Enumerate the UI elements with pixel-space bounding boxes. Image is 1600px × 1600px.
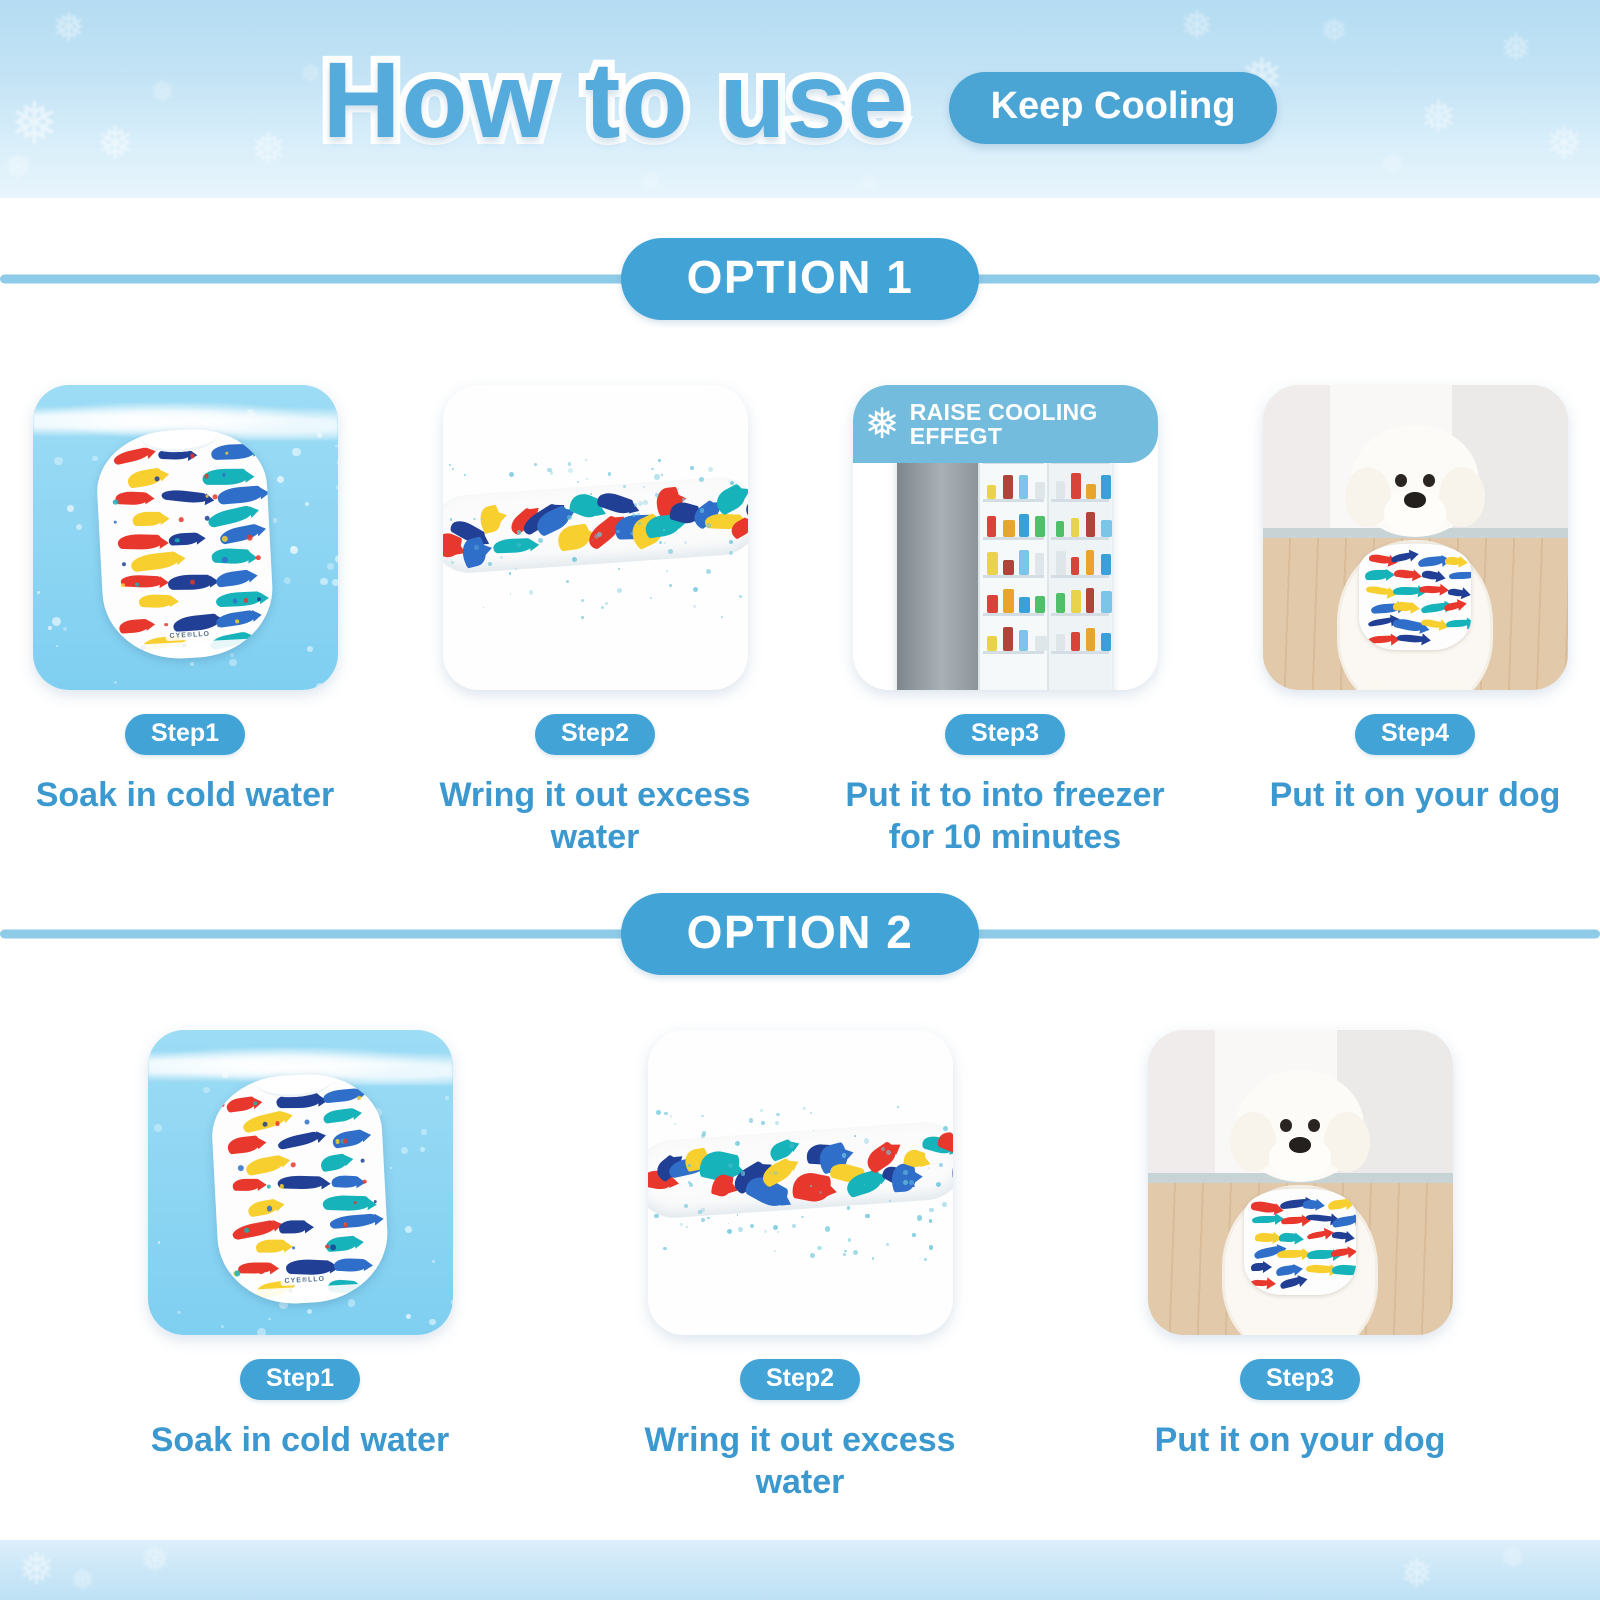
step-image-wrung-fabric-with-splash[interactable] [648,1030,953,1335]
water-droplet [854,1135,856,1137]
refrigerator-item [1056,481,1065,499]
dot-motif [175,538,180,543]
water-droplet [842,1153,846,1157]
water-droplet [912,1233,916,1237]
dot-motif [190,453,195,458]
step-image-wrung-fabric-with-splash[interactable] [443,385,748,690]
fish-motif [1280,1277,1302,1290]
dot-motif [264,617,267,620]
step-3: Step3Put it on your dog [1130,1030,1470,1462]
fish-motif [1331,1230,1348,1240]
water-droplet [693,587,698,592]
water-droplet [567,515,572,520]
refrigerator-item [1056,593,1065,613]
step-caption: Wring it out excess water [425,775,765,859]
water-droplet [566,580,569,583]
water-droplet [701,1218,705,1222]
snowflake-icon: ❅ [865,403,900,445]
water-droplet [663,1247,667,1251]
water-droplet [801,1216,803,1218]
fish-motif [121,574,162,588]
dot-motif [113,499,119,505]
dot-motif [259,1269,264,1274]
water-droplet [897,1106,899,1108]
water-droplet [903,1180,908,1185]
fish-motif [1393,617,1424,633]
step-badge: Step2 [740,1359,860,1400]
product-shirt: CYE®LLO [209,1070,391,1307]
fish-motif [334,1258,367,1272]
fish-motif [1250,1279,1269,1286]
header-band: ❅❅❅❅❅❅❅❅❅❅❅❅❅❅❅❅ How to use Keep Cooling [0,0,1600,198]
refrigerator-item [1056,634,1065,651]
step-image-product-shirt-in-water[interactable]: CYE®LLO [33,385,338,690]
water-droplet [529,590,534,595]
fish-motif [1421,569,1439,580]
snowflake-icon: ❅ [1400,1554,1434,1594]
fish-motif [216,590,263,606]
water-droplet [917,1215,922,1220]
fish-motif [216,569,253,587]
water-droplet [690,466,694,470]
refrigerator-item [1056,521,1064,537]
step-badge: Step3 [1240,1359,1360,1400]
fish-motif [276,1130,320,1149]
fish-motif [117,534,161,550]
dot-motif [237,1165,243,1171]
water-droplet [517,530,521,534]
water-droplet [727,1229,732,1234]
step-caption: Soak in cold water [15,775,355,817]
water-droplet [929,1208,933,1212]
water-droplet [670,1115,673,1118]
water-droplet [825,1226,830,1231]
dot-motif [252,450,257,455]
refrigerator-item [1019,597,1030,613]
dot-motif [122,562,126,566]
water-droplet [728,1163,733,1168]
fish-motif [330,1213,378,1229]
refrigerator-item [1019,630,1028,651]
refrigerator-item [1086,628,1095,651]
refrigerator-item [987,595,998,613]
refrigerator-item [1003,589,1014,613]
dog-paw [1319,1327,1359,1335]
refrigerator-item [1071,632,1080,651]
water-droplet [655,493,659,497]
water-droplet [581,616,584,619]
dog-paw [1241,1327,1281,1335]
page-title: How to use [323,37,909,162]
water-droplet [680,1223,683,1226]
option-1-label: OPTION 1 [621,238,980,320]
step-badge: Step2 [535,714,655,755]
water-droplet [684,541,687,544]
step-1: CYE®LLOStep1Soak in cold water [130,1030,470,1462]
fish-motif [277,1175,324,1190]
product-shirt: CYE®LLO [94,425,276,662]
dot-motif [253,1101,258,1106]
water-droplet [810,1112,812,1114]
refrigerator-item [987,516,996,537]
water-droplet [761,1121,765,1125]
fish-motif [1365,570,1388,580]
water-droplet [452,468,454,470]
dog-eye [1423,474,1435,487]
water-droplet [701,1115,704,1118]
refrigerator-item [1101,554,1111,575]
option-1-divider: OPTION 1 [0,240,1600,318]
water-droplet [909,1180,914,1185]
step-badge: Step4 [1355,714,1475,755]
dot-motif [221,535,227,541]
step-caption: Soak in cold water [130,1420,470,1462]
option-2-label: OPTION 2 [621,893,980,975]
fish-motif [1368,553,1391,565]
dog-eye [1308,1119,1320,1132]
refrigerator-shelf [983,537,1044,540]
water-droplet [656,1110,661,1115]
dot-motif [164,623,168,627]
refrigerator-shelf [983,499,1044,502]
option-2-divider: OPTION 2 [0,895,1600,973]
refrigerator-item [1035,482,1045,499]
water-droplet [729,551,733,555]
water-droplet [810,1185,812,1187]
refrigerator-item [1086,550,1094,575]
dog-shirt [1244,1189,1356,1295]
fish-motif [746,495,747,518]
fish-motif [232,1219,278,1240]
dot-motif [244,1227,249,1232]
dot-motif [292,1246,295,1249]
water-droplet [707,1217,709,1219]
water-droplet [848,1238,851,1241]
fish-motif [232,1179,259,1191]
dot-motif [354,1201,357,1204]
fish-motif [1303,1199,1319,1210]
fish-motif [116,491,148,505]
step-1: CYE®LLOStep1Soak in cold water [15,385,355,817]
fish-motif [1306,1264,1333,1275]
fish-motif [113,447,150,466]
refrigerator-item [1071,590,1081,613]
fish-motif [256,1239,286,1252]
fish-motif [1394,569,1416,581]
dot-motif [244,597,249,602]
fish-motif [1251,1263,1265,1271]
dog-shirt [1359,544,1471,650]
water-droplet [708,467,713,472]
step-image-product-shirt-in-water[interactable]: CYE®LLO [148,1030,453,1335]
water-droplet [500,556,503,559]
refrigerator-item [1101,633,1111,651]
water-droplet [777,1231,779,1233]
refrigerator [897,445,1112,690]
dot-motif [179,517,184,522]
water-droplet [643,500,648,505]
water-droplet [450,518,453,521]
dog-eye [1395,474,1407,487]
water-droplet [789,1143,793,1147]
fish-motif [130,551,179,572]
dot-motif [235,619,239,623]
dot-motif [232,598,237,603]
step-badge: Step1 [240,1359,360,1400]
refrigerator-item [1003,520,1015,537]
refrigerator-item [1086,484,1096,499]
water-droplet [735,1141,740,1146]
dot-motif [279,1183,284,1188]
fish-motif [1251,1200,1278,1214]
water-droplet [803,1107,806,1110]
fish-motif [332,1175,360,1188]
step-badge: Step3 [945,714,1065,755]
water-droplet [630,532,634,536]
water-droplet [721,616,723,618]
water-droplet [864,1138,869,1143]
fish-motif [1254,1232,1275,1242]
fish-motif [1276,1264,1297,1276]
water-droplet [775,1121,779,1125]
water-droplet [585,459,587,461]
fish-motif [211,443,255,459]
refrigerator-item [1086,588,1094,613]
dog-paw [1356,682,1396,690]
overlay-line-2: EFFEGT [910,424,1098,448]
fish-motif [791,1170,833,1205]
fish-motif [1391,552,1413,562]
step-image-dog-wearing-shirt[interactable] [1263,385,1568,690]
fish-motif [1365,585,1390,597]
footer-band: ❅❅❅❅❅ [0,1540,1600,1600]
fish-motif [1277,1250,1305,1258]
step-caption: Put it on your dog [1245,775,1585,817]
water-droplet [769,1172,771,1174]
fish-motif [323,1108,356,1124]
refrigerator-item [1086,512,1095,537]
dot-motif [204,473,209,478]
snowflake-icon: ❅ [140,1542,170,1578]
water-droplet [738,1227,743,1232]
refrigerator-item [987,636,997,651]
dot-motif [221,1102,225,1106]
fish-motif [139,594,173,608]
refrigerator-item [1019,475,1028,499]
refrigerator-item [987,552,998,575]
step-image-dog-wearing-shirt[interactable] [1148,1030,1453,1335]
refrigerator-item [1003,475,1013,499]
water-droplet [616,530,619,533]
refrigerator-item [1035,516,1044,537]
fish-motif [211,547,251,564]
refrigerator-item [1035,553,1043,575]
water-droplet [638,522,641,525]
dot-motif [304,1119,309,1124]
dot-motif [155,476,160,481]
dot-motif [343,1222,348,1227]
dot-motif [257,597,261,601]
fish-motif [1447,587,1464,597]
water-droplet [449,464,451,466]
dot-motif [362,1179,366,1183]
fish-motif [132,511,162,526]
water-droplet [741,1171,745,1175]
fish-motif [244,1154,285,1176]
refrigerator-shelf [1051,499,1109,502]
refrigerator-shelf [983,575,1044,578]
water-droplet [929,1245,933,1249]
dot-motif [234,1270,240,1276]
refrigerator-item [1003,560,1014,575]
dot-motif [212,494,217,499]
fish-motif [1418,556,1445,568]
refrigerator-item [1056,551,1066,575]
fish-motif [1281,1217,1304,1225]
fish-motif [1306,1230,1327,1239]
dog-head [1351,425,1479,537]
refrigerator-item [1071,518,1079,537]
refrigerator-left-door [897,445,979,690]
water-droplet [847,1206,850,1209]
refrigerator-shelf [1051,613,1109,616]
water-droplet [943,1126,948,1131]
fish-motif [226,1095,256,1112]
refrigerator-item [1101,520,1112,537]
fish-motif [1367,617,1393,627]
water-droplet [689,1183,693,1187]
fish-motif [1446,620,1469,628]
water-droplet [608,472,612,476]
water-droplet [651,468,654,471]
refrigerator-cabinet [978,445,1047,690]
brand-mark: CYE®LLO [165,629,214,641]
refrigerator-item [1003,627,1013,651]
snowflake-icon: ❅ [18,1548,55,1592]
water-droplet [517,543,521,547]
dot-motif [267,1184,272,1189]
fish-motif [1393,587,1420,596]
dot-motif [291,1162,296,1167]
fish-motif [161,488,208,504]
water-droplet [474,545,479,550]
dot-motif [255,555,260,560]
water-droplet [792,1224,796,1228]
fish-motif [320,1152,348,1171]
dot-motif [225,451,228,454]
fish-motif [322,1087,359,1102]
step-caption: Wring it out excess water [630,1420,970,1504]
fish-motif [217,485,263,504]
water-droplet [664,542,666,544]
step-2: Step2Wring it out excess water [425,385,765,859]
refrigerator-shelf [983,651,1044,654]
snowflake-icon: ❅ [70,1566,95,1596]
brand-mark: CYE®LLO [280,1274,329,1286]
water-droplet [942,1202,947,1207]
step-4: Step4Put it on your dog [1245,385,1585,817]
water-droplet [676,532,678,534]
water-droplet [886,1243,889,1246]
water-droplet [666,570,668,572]
water-droplet [929,1219,933,1223]
dot-motif [343,1138,348,1143]
refrigerator-shelf [1051,575,1109,578]
water-droplet [568,462,571,465]
fish-motif [247,1198,279,1217]
water-droplet [700,508,705,513]
dog-ear [1439,467,1485,527]
dot-motif [222,556,228,562]
step-caption: Put it on your dog [1130,1420,1470,1462]
fish-motif [119,619,149,633]
dog-nose [1404,492,1426,508]
dog-paw [1434,682,1474,690]
water-droplet [764,1230,767,1233]
fish-motif [493,539,532,554]
dot-motif [266,1205,272,1211]
fish-motif [168,532,198,545]
refrigerator-item [1019,550,1029,575]
refrigerator-item [1071,473,1081,499]
step-image-open-refrigerator[interactable]: ❅RAISE COOLINGEFFEGT [853,385,1158,690]
keep-cooling-badge: Keep Cooling [949,72,1278,144]
water-droplet [773,1225,778,1230]
water-droplet [817,1246,821,1250]
refrigerator-item [1071,557,1079,575]
dog-eye [1280,1119,1292,1132]
water-droplet [550,471,554,475]
refrigerator-shelf [983,613,1044,616]
dot-motif [275,1121,280,1126]
snowflake-icon: ❅ [1500,1544,1525,1574]
step-caption: Put it to into freezer for 10 minutes [835,775,1175,859]
raise-cooling-effect-overlay: ❅RAISE COOLINGEFFEGT [853,385,1158,463]
water-droplet [572,557,577,562]
option-1-steps: CYE®LLOStep1Soak in cold waterStep2Wring… [0,385,1600,859]
fish-motif [1368,635,1394,643]
fish-motif [1252,1216,1277,1223]
refrigerator-shelf [1051,651,1109,654]
option-2-steps: CYE®LLOStep1Soak in cold waterStep2Wring… [0,1030,1600,1504]
dot-motif [361,1158,365,1162]
fish-motif [238,1262,272,1273]
dot-motif [121,583,125,587]
dot-motif [113,520,116,523]
refrigerator-item [1101,591,1112,613]
water-droplet [661,474,663,476]
water-droplet [939,1163,943,1167]
dog-nose [1289,1137,1311,1153]
water-droplet [658,459,661,462]
fish-motif [227,1134,260,1153]
water-droplet [654,1214,659,1219]
water-droplet [872,1257,874,1259]
fish-motif [286,1258,332,1274]
dot-motif [190,579,195,584]
fish-motif [279,1220,307,1233]
fish-motif [1396,634,1424,644]
fish-motif [557,524,593,553]
water-droplet [865,1214,869,1218]
fish-motif [1328,1199,1349,1211]
fish-motif [216,609,256,627]
dot-motif [330,1244,336,1250]
refrigerator-shelf [1051,537,1109,540]
overlay-line-1: RAISE COOLING [910,400,1098,424]
water-droplet [515,568,517,570]
dog-head [1236,1070,1364,1182]
